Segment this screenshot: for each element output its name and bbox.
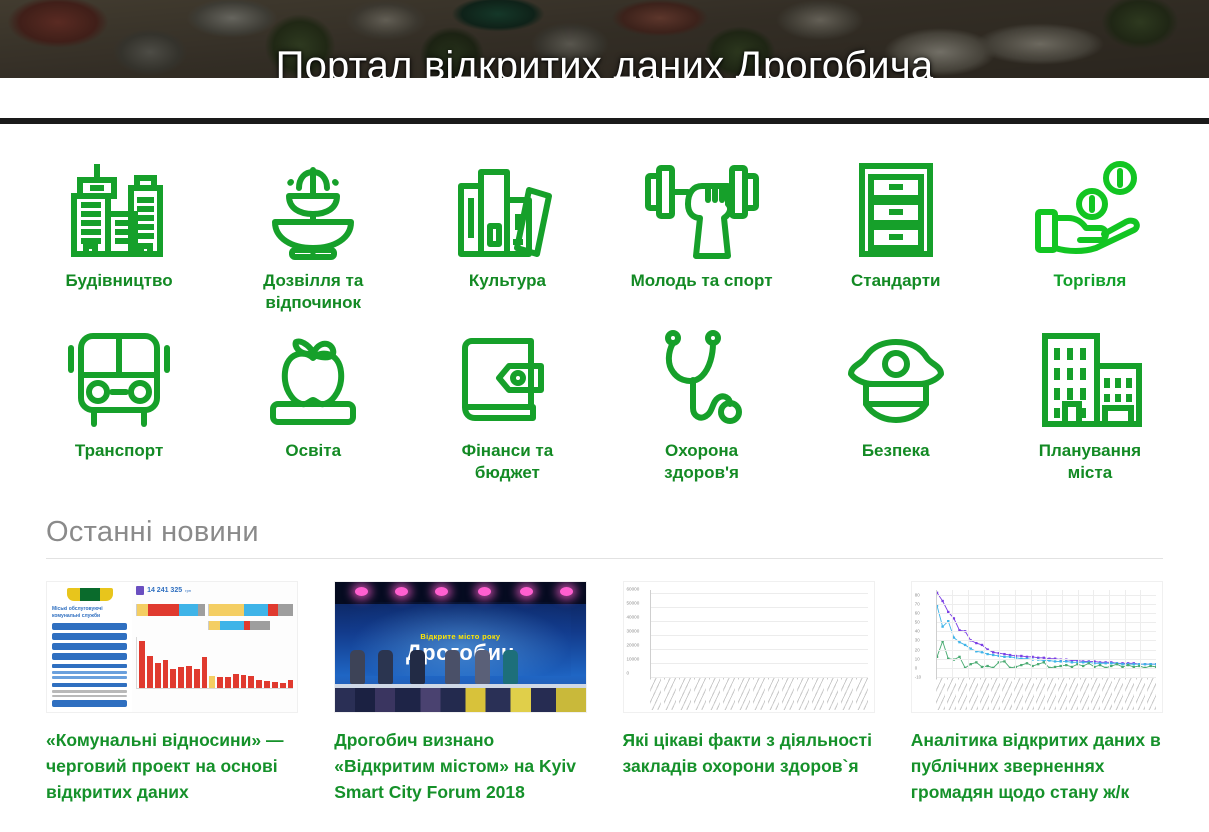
line-point xyxy=(1110,662,1112,664)
line-point xyxy=(1144,663,1146,665)
page-body: Будівництво Дозвілля та відпочинок xyxy=(0,124,1209,805)
books-icon xyxy=(455,158,559,262)
line-point xyxy=(1054,660,1056,662)
category-label: Транспорт xyxy=(75,440,163,462)
line-point xyxy=(1042,661,1044,663)
line-point xyxy=(975,642,977,644)
news-thumbnail-photo[interactable]: Відкрите місто року Дрогобич xyxy=(334,581,586,713)
line-point xyxy=(1149,665,1151,667)
hand-coins-icon xyxy=(1034,158,1146,262)
stage-lighting-rig xyxy=(335,582,585,604)
news-card[interactable]: 0100002000030000400005000060000 Які ціка… xyxy=(623,581,875,805)
stage-person xyxy=(445,650,460,684)
dashboard-main: 14 241 325 грн xyxy=(132,582,297,712)
category-item-dozvillia[interactable]: Дозвілля та відпочинок xyxy=(216,158,410,328)
line-point xyxy=(1155,663,1156,665)
stethoscope-icon xyxy=(650,328,754,432)
dashboard-link xyxy=(52,671,127,674)
line-point xyxy=(941,626,943,628)
line-point xyxy=(1087,662,1089,664)
line-point xyxy=(1110,665,1112,667)
line-point xyxy=(975,650,977,652)
line-point xyxy=(1026,662,1028,664)
stage-person xyxy=(350,650,365,684)
dashboard-stacked-bar xyxy=(136,604,205,616)
dashboard-kpi-value: 14 241 325 xyxy=(147,587,182,594)
news-card[interactable]: Міські обслуговуючі комунальні служби xyxy=(46,581,298,805)
stage-person xyxy=(503,650,518,684)
line-point xyxy=(1020,655,1022,657)
news-thumbnail-dashboard[interactable]: Міські обслуговуючі комунальні служби xyxy=(46,581,298,713)
line-point xyxy=(1037,663,1039,665)
line-chart-x-axis-labels xyxy=(936,678,1156,710)
line-point xyxy=(1132,663,1134,665)
dashboard-subheading xyxy=(52,683,127,687)
dashboard-button xyxy=(52,633,127,640)
dumbbell-arm-icon xyxy=(644,158,760,262)
dashboard-stacked-bar xyxy=(208,604,294,616)
line-point xyxy=(992,654,994,656)
category-item-budivnytstvo[interactable]: Будівництво xyxy=(22,158,216,328)
wallet-icon xyxy=(455,328,559,432)
line-point xyxy=(1099,664,1101,666)
line-point xyxy=(937,656,938,658)
line-point xyxy=(1115,663,1117,665)
stacked-bar-x-axis-labels xyxy=(650,678,868,710)
stacked-bar-chart-plot: 0100002000030000400005000060000 xyxy=(650,590,868,678)
line-point xyxy=(1104,662,1106,664)
line-point xyxy=(981,651,983,653)
latest-news-section: Останні новини Міські обслуговуючі комун… xyxy=(22,512,1187,805)
city-emblem-icon xyxy=(67,588,113,601)
news-card-title: Дрогобич визнано «Відкритим містом» на K… xyxy=(334,727,586,805)
stage-audience xyxy=(335,688,585,712)
line-point xyxy=(958,656,960,658)
line-point xyxy=(1127,664,1129,666)
news-card-title: Які цікаві факти з діяльності закладів о… xyxy=(623,727,875,779)
line-point xyxy=(981,644,983,646)
category-label: Дозвілля та відпочинок xyxy=(238,270,388,314)
line-point xyxy=(1003,660,1005,662)
line-point xyxy=(1082,661,1084,663)
city-blocks-icon xyxy=(1035,328,1145,432)
line-point xyxy=(941,600,943,602)
category-item-molod-sport[interactable]: Молодь та спорт xyxy=(605,158,799,328)
dashboard-button xyxy=(52,623,127,630)
dashboard-button xyxy=(52,700,127,707)
stacked-bar-columns xyxy=(653,590,866,678)
nav-strip xyxy=(0,78,1209,118)
line-point xyxy=(1082,665,1084,667)
category-item-transport[interactable]: Транспорт xyxy=(22,328,216,498)
line-point xyxy=(986,665,988,667)
category-item-ohorona-zdorovia[interactable]: Охорона здоров'я xyxy=(605,328,799,498)
line-point xyxy=(1048,659,1050,661)
dashboard-text-line xyxy=(52,695,127,698)
apple-book-icon xyxy=(261,328,365,432)
line-point xyxy=(1009,656,1011,658)
category-label: Безпека xyxy=(862,440,930,462)
line-point xyxy=(1003,656,1005,658)
line-point xyxy=(964,644,966,646)
line-point xyxy=(958,641,960,643)
category-label: Торгівля xyxy=(1053,270,1126,292)
dashboard-sidebar: Міські обслуговуючі комунальні служби xyxy=(47,582,132,712)
category-label: Культура xyxy=(469,270,546,292)
category-label: Охорона здоров'я xyxy=(627,440,777,484)
dashboard-kpi-unit: грн xyxy=(185,588,191,593)
news-thumbnail-line-chart[interactable]: -1001020304050607080 xyxy=(911,581,1163,713)
line-point xyxy=(937,592,938,594)
category-label: Будівництво xyxy=(66,270,173,292)
dashboard-user-icon xyxy=(136,586,144,595)
latest-news-heading: Останні новини xyxy=(46,512,1187,552)
dashboard-link xyxy=(52,676,127,679)
stage-city-name: Дрогобич xyxy=(335,640,585,666)
news-grid: Міські обслуговуючі комунальні служби xyxy=(22,559,1187,805)
category-label: Стандарти xyxy=(851,270,941,292)
category-item-planuvannia-mista[interactable]: Планування міста xyxy=(993,328,1187,498)
line-point xyxy=(986,653,988,655)
dashboard-button xyxy=(52,643,127,650)
line-point xyxy=(975,661,977,663)
category-label: Планування міста xyxy=(1015,440,1165,484)
news-thumbnail-stacked-bars[interactable]: 0100002000030000400005000060000 xyxy=(623,581,875,713)
site-hero: Портал відкритих даних Дрогобича xyxy=(0,0,1209,78)
bus-icon xyxy=(64,328,174,432)
dashboard-subheading xyxy=(52,664,127,668)
news-card-title: «Комунальні відносини» — черговий проект… xyxy=(46,727,298,805)
news-card[interactable]: -1001020304050607080 Аналітика відкритих… xyxy=(911,581,1163,805)
line-point xyxy=(1065,664,1067,666)
line-point xyxy=(1020,664,1022,666)
news-card[interactable]: Відкрите місто року Дрогобич Дрогобич ви… xyxy=(334,581,586,805)
file-cabinet-icon xyxy=(844,158,948,262)
line-point xyxy=(1065,660,1067,662)
category-label: Молодь та спорт xyxy=(631,270,773,292)
police-cap-icon xyxy=(841,328,951,432)
category-item-kultura[interactable]: Культура xyxy=(410,158,604,328)
line-point xyxy=(937,604,938,606)
stage-person xyxy=(475,650,490,684)
category-label: Освіта xyxy=(285,440,341,462)
news-card-title: Аналітика відкритих даних в публічних зв… xyxy=(911,727,1163,805)
dashboard-stacked-bar xyxy=(208,621,294,630)
line-point xyxy=(992,651,994,653)
line-chart-plot: -1001020304050607080 xyxy=(936,590,1156,678)
fountain-icon xyxy=(261,158,365,262)
category-item-osvita[interactable]: Освіта xyxy=(216,328,410,498)
category-item-standarty[interactable]: Стандарти xyxy=(799,158,993,328)
stage-person xyxy=(410,650,425,684)
category-item-finansy[interactable]: Фінанси та бюджет xyxy=(410,328,604,498)
page-title: Портал відкритих даних Дрогобича xyxy=(0,27,1209,78)
line-point xyxy=(1003,653,1005,655)
category-item-bezpeka[interactable]: Безпека xyxy=(799,328,993,498)
dashboard-button xyxy=(52,653,127,660)
dashboard-sidebar-heading: Міські обслуговуючі комунальні служби xyxy=(52,606,127,620)
line-point xyxy=(1070,661,1072,663)
category-label: Фінанси та бюджет xyxy=(432,440,582,484)
line-point xyxy=(969,663,971,665)
stage-lamp-icon xyxy=(478,587,491,596)
category-grid: Будівництво Дозвілля та відпочинок xyxy=(22,124,1187,498)
category-item-torhivlia[interactable]: Торгівля xyxy=(993,158,1187,328)
line-point xyxy=(1121,663,1123,665)
stage-person xyxy=(378,650,393,684)
buildings-icon xyxy=(67,158,171,262)
dashboard-text-line xyxy=(52,690,127,693)
dashboard-bar-chart xyxy=(136,637,293,689)
